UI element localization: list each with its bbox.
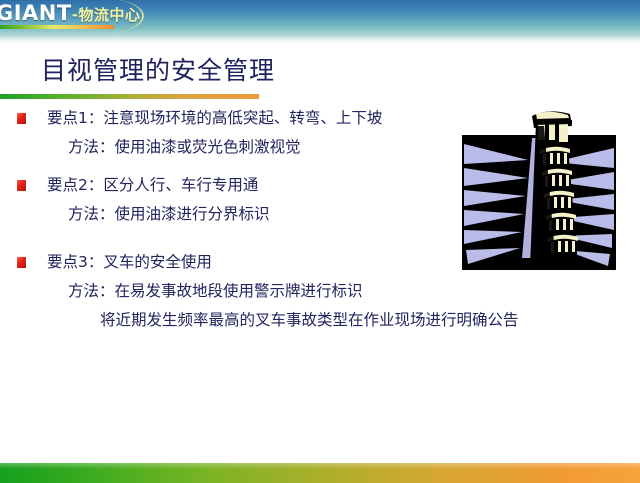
point-line-3-1: 将近期发生频率最高的叉车事故类型在作业现场进行明确公告 [100, 306, 640, 335]
logo-text-cn: -物流中心 [72, 6, 141, 24]
point-heading-2: 要点2：区分人行、车行专用通 [47, 171, 258, 200]
red-square-bullet-icon [17, 180, 26, 191]
logo-underline-gradient [0, 25, 114, 29]
leaning-tower-of-pisa-image [462, 108, 616, 270]
red-square-bullet-icon [17, 113, 26, 124]
red-square-bullet-icon [17, 257, 26, 268]
page-title: 目视管理的安全管理 [41, 54, 275, 88]
company-logo: GIANT-物流中心 [0, 1, 176, 35]
footer-gradient-bar [0, 463, 640, 483]
slide: GIANT-物流中心 目视管理的安全管理 要点1：注意现场环境的高低突起、转弯、… [0, 0, 640, 483]
slide-header-band: GIANT-物流中心 [0, 0, 640, 46]
point-line-3-0: 方法：在易发事故地段使用警示牌进行标识 [68, 277, 640, 306]
title-divider-rule [0, 94, 259, 99]
point-heading-1: 要点1：注意现场环境的高低突起、转弯、上下坡 [47, 104, 382, 133]
point-heading-3: 要点3：叉车的安全使用 [47, 248, 212, 277]
logo-text: GIANT-物流中心 [0, 1, 140, 27]
logo-text-en: GIANT [0, 1, 72, 25]
